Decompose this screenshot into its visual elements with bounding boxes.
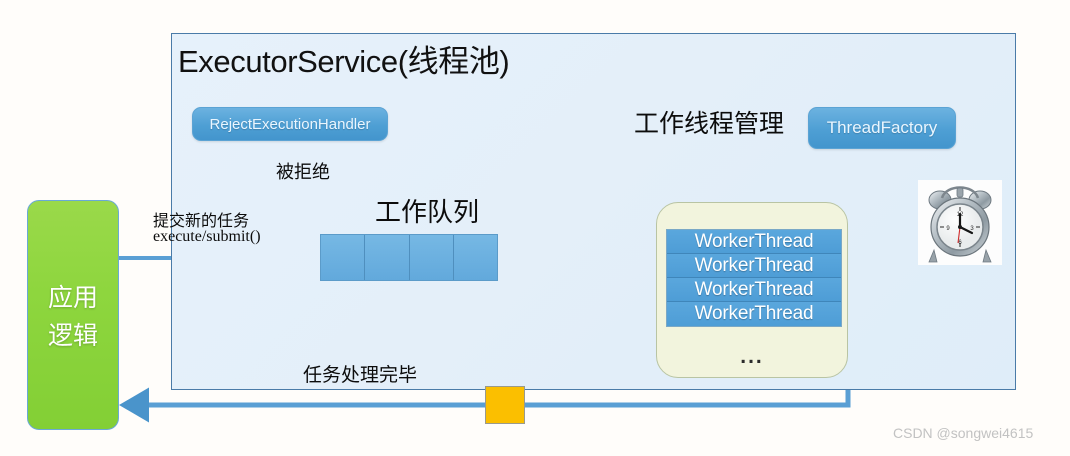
worker-overflow-indicator: ... <box>657 345 847 369</box>
work-queue <box>320 234 498 281</box>
queue-cell <box>410 235 454 280</box>
worker-thread-row: WorkerThread <box>667 278 841 302</box>
alarm-clock-icon: 12 3 6 9 <box>918 180 1002 265</box>
worker-thread-row: WorkerThread <box>667 302 841 326</box>
watermark: CSDN @songwei4615 <box>893 425 1033 441</box>
worker-thread-list: WorkerThread WorkerThread WorkerThread W… <box>666 229 842 327</box>
app-logic-line2: 逻辑 <box>48 316 98 352</box>
worker-thread-row: WorkerThread <box>667 254 841 278</box>
executor-service-panel <box>171 33 1016 390</box>
task-complete-label: 任务处理完毕 <box>303 360 417 387</box>
work-queue-label: 工作队列 <box>375 192 479 229</box>
page-title: ExecutorService(线程池) <box>178 36 509 81</box>
queue-cell <box>365 235 409 280</box>
thread-factory-box[interactable]: ThreadFactory <box>808 107 956 149</box>
task-token-marker <box>485 386 525 424</box>
worker-management-label: 工作线程管理 <box>634 104 784 140</box>
queue-cell <box>454 235 497 280</box>
reject-execution-handler-box[interactable]: RejectExecutionHandler <box>192 107 388 141</box>
submit-label-line2: execute/submit() <box>153 228 261 246</box>
worker-thread-pool: WorkerThread WorkerThread WorkerThread W… <box>656 202 848 378</box>
app-logic-line1: 应用 <box>48 278 98 314</box>
rejected-label: 被拒绝 <box>276 158 330 184</box>
worker-thread-row: WorkerThread <box>667 230 841 254</box>
application-logic-box[interactable]: 应用 逻辑 <box>27 200 119 430</box>
diagram-canvas: ExecutorService(线程池) RejectExecutionHand… <box>0 0 1070 456</box>
queue-cell <box>321 235 365 280</box>
